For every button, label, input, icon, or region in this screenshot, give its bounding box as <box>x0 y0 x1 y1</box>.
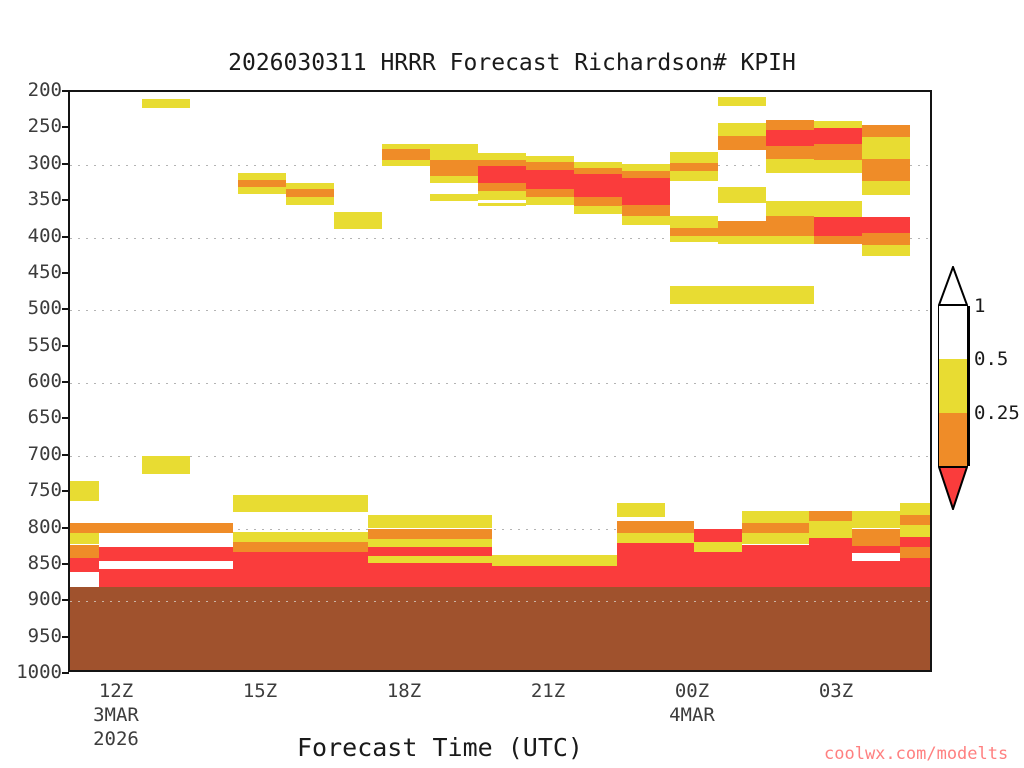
colorbar-segment-0.5 <box>938 359 968 412</box>
x-axis-label-15Z: 15Z <box>243 680 277 702</box>
heatmap-cell <box>670 228 718 236</box>
heatmap-cell <box>766 286 814 304</box>
heatmap-cell <box>622 178 670 205</box>
x-axis-date-3MAR: 3MAR <box>93 704 139 726</box>
heatmap-cell <box>574 206 622 214</box>
heatmap-cell <box>70 545 99 558</box>
heatmap-cells <box>70 92 930 670</box>
heatmap-cell <box>526 189 574 197</box>
heatmap-cell <box>694 552 742 587</box>
x-axis-label-03Z: 03Z <box>819 680 853 702</box>
heatmap-cell <box>492 566 617 586</box>
colorbar-segment-1 <box>938 306 968 359</box>
heatmap-cell <box>430 176 478 183</box>
colorbar-tick <box>968 359 970 412</box>
colorbar-legend: 10.50.25 <box>938 306 968 466</box>
y-axis-ticks <box>0 90 70 672</box>
heatmap-cell <box>742 545 809 587</box>
page-title: 2026030311 HRRR Forecast Richardson# KPI… <box>0 50 1024 76</box>
heatmap-cell <box>742 523 809 532</box>
heatmap-cell <box>862 125 910 137</box>
heatmap-cell <box>617 543 694 587</box>
heatmap-cell <box>99 569 233 587</box>
heatmap-cell <box>526 197 574 205</box>
heatmap-cell <box>430 144 478 160</box>
heatmap-cell <box>142 456 190 474</box>
heatmap-cell <box>742 533 809 545</box>
heatmap-cell <box>718 286 766 304</box>
heatmap-cell <box>862 233 910 245</box>
heatmap-cell <box>238 187 286 194</box>
heatmap-cell <box>814 217 862 236</box>
heatmap-cell <box>233 495 367 512</box>
heatmap-cell <box>742 511 809 523</box>
heatmap-cell <box>99 547 233 562</box>
heatmap-cell <box>233 542 367 552</box>
heatmap-cell <box>814 236 862 244</box>
heatmap-cell <box>382 160 430 166</box>
heatmap-cell <box>382 149 430 161</box>
heatmap-cell <box>368 515 493 529</box>
heatmap-cell <box>900 503 932 515</box>
heatmap-cell <box>862 245 910 256</box>
heatmap-cell <box>766 216 814 236</box>
gridline-900 <box>70 601 930 602</box>
heatmap-cell <box>814 201 862 217</box>
heatmap-cell <box>766 130 814 146</box>
colorbar-label-0.5: 0.5 <box>974 348 1008 370</box>
heatmap-cell <box>368 563 493 586</box>
heatmap-cell <box>900 525 932 537</box>
heatmap-cell <box>478 183 526 191</box>
heatmap-cell <box>622 171 670 178</box>
heatmap-cell <box>233 552 367 564</box>
heatmap-cell <box>809 538 852 587</box>
heatmap-cell <box>670 286 718 304</box>
heatmap-cell <box>694 542 742 552</box>
heatmap-cell <box>718 123 766 135</box>
heatmap-cell <box>766 120 814 129</box>
colorbar-label-1: 1 <box>974 295 985 317</box>
heatmap-cell <box>574 174 622 197</box>
heatmap-cell <box>70 523 99 532</box>
heatmap-cell <box>670 171 718 181</box>
heatmap-cell <box>862 181 910 196</box>
heatmap-cell <box>814 160 862 173</box>
heatmap-cell <box>142 99 190 108</box>
heatmap-cell <box>334 212 382 229</box>
heatmap-cell <box>368 556 493 563</box>
colorbar-upper-arrow <box>938 266 968 306</box>
heatmap-cell <box>238 180 286 187</box>
heatmap-cell <box>99 561 233 568</box>
heatmap-cell <box>766 146 814 159</box>
colorbar-tick <box>968 413 970 466</box>
watermark: coolwx.com/modelts <box>824 744 1008 764</box>
heatmap-cell <box>70 558 99 573</box>
heatmap-cell <box>670 216 718 228</box>
heatmap-cell <box>622 216 670 225</box>
colorbar-label-0.25: 0.25 <box>974 402 1020 424</box>
heatmap-cell <box>286 189 334 197</box>
heatmap-cell <box>852 553 900 561</box>
heatmap-cell <box>718 187 766 203</box>
heatmap-cell <box>670 152 718 163</box>
heatmap-cell <box>862 159 910 181</box>
x-axis-date-4MAR: 4MAR <box>669 704 715 726</box>
heatmap-cell <box>368 547 493 556</box>
heatmap-cell <box>718 136 766 151</box>
heatmap-cell <box>526 170 574 190</box>
heatmap-cell <box>286 197 334 205</box>
heatmap-cell <box>233 532 367 541</box>
heatmap-cell <box>718 97 766 106</box>
heatmap-cell <box>852 511 900 528</box>
heatmap-cell <box>492 555 617 567</box>
heatmap-cell <box>670 163 718 170</box>
heatmap-cell <box>368 539 493 547</box>
heatmap-cell <box>814 128 862 145</box>
colorbar-tick <box>968 306 970 359</box>
heatmap-cell <box>430 194 478 201</box>
heatmap-cell <box>809 511 852 521</box>
heatmap-cell <box>900 537 932 547</box>
heatmap-cell <box>718 236 766 244</box>
heatmap-cell <box>478 203 526 207</box>
heatmap-cell <box>70 481 99 501</box>
heatmap-cell <box>900 515 932 524</box>
heatmap-cell <box>814 144 862 160</box>
heatmap-cell <box>478 191 526 200</box>
x-axis-label-21Z: 21Z <box>531 680 565 702</box>
x-axis-label-00Z: 00Z <box>675 680 709 702</box>
heatmap-cell <box>766 159 814 174</box>
heatmap-cell <box>852 546 900 553</box>
plot-area <box>68 90 932 672</box>
heatmap-cell <box>70 533 99 545</box>
x-axis-title: Forecast Time (UTC) <box>0 733 880 762</box>
heatmap-cell <box>99 523 233 532</box>
heatmap-cell <box>478 166 526 183</box>
chart-root: 2026030311 HRRR Forecast Richardson# KPI… <box>0 0 1024 768</box>
colorbar-segment-0.25 <box>938 413 968 466</box>
heatmap-cell <box>617 521 694 533</box>
x-axis-label-18Z: 18Z <box>387 680 421 702</box>
heatmap-cell <box>526 162 574 170</box>
heatmap-cell <box>766 201 814 216</box>
heatmap-cell <box>574 197 622 206</box>
heatmap-cell <box>862 217 910 233</box>
heatmap-cell <box>617 503 665 517</box>
heatmap-cell <box>766 236 814 244</box>
heatmap-cell <box>862 137 910 159</box>
heatmap-cell <box>368 529 493 540</box>
heatmap-cell <box>670 236 718 242</box>
colorbar-lower-arrow <box>938 466 968 506</box>
heatmap-cell <box>809 521 852 538</box>
heatmap-cell <box>900 558 932 587</box>
heatmap-cell <box>617 533 694 543</box>
heatmap-cell <box>622 205 670 216</box>
x-axis-label-12Z: 12Z <box>99 680 133 702</box>
heatmap-cell <box>233 563 367 586</box>
terrain-fill <box>70 587 930 672</box>
heatmap-cell <box>852 561 900 586</box>
heatmap-cell <box>694 529 742 542</box>
heatmap-cell <box>718 221 766 236</box>
heatmap-cell <box>430 160 478 176</box>
heatmap-cell <box>852 529 900 546</box>
heatmap-cell <box>900 547 932 557</box>
